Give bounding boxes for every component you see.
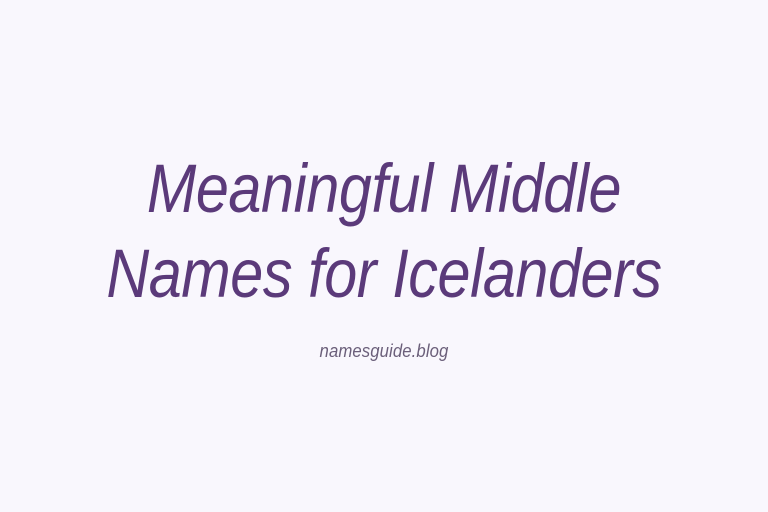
page-title: Meaningful Middle Names for Icelanders [0,146,768,316]
page-title-line-2: Names for Icelanders [74,231,693,316]
site-credit: namesguide.blog [27,340,741,362]
page-title-line-1: Meaningful Middle [74,146,693,231]
title-card-banner: Meaningful Middle Names for Icelanders n… [0,0,768,512]
